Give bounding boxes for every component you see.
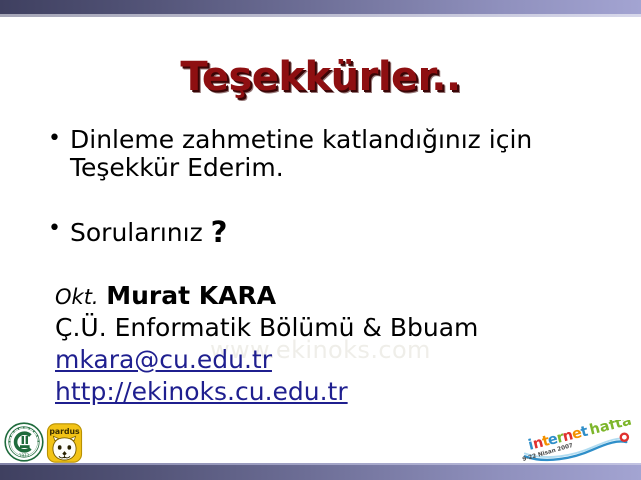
bullet-text-questions: Sorularınız ?	[70, 216, 608, 248]
bullet-list: • Dinleme zahmetine katlandığınız için T…	[48, 126, 608, 248]
slide-title: Teşekkürler..	[0, 54, 641, 100]
presenter-line: Okt. Murat KARA	[55, 280, 615, 312]
presenter-name: Murat KARA	[106, 281, 276, 310]
pardus-wordmark-text: pardus	[49, 427, 80, 436]
cukurova-universitesi-logo-icon: 1973	[4, 421, 44, 463]
presenter-department: Ç.Ü. Enformatik Bölümü & Bbuam	[55, 312, 615, 344]
list-item: • Dinleme zahmetine katlandığınız için T…	[48, 126, 608, 182]
top-band-shadow	[0, 14, 641, 17]
contact-block: Okt. Murat KARA Ç.Ü. Enformatik Bölümü &…	[55, 280, 615, 407]
bullet-spacer	[48, 182, 608, 216]
bullet-marker-icon: •	[48, 126, 70, 152]
questions-label: Sorularınız	[70, 218, 211, 247]
email-link[interactable]: mkara@cu.edu.tr	[55, 344, 272, 376]
pardus-logo-icon: pardus	[46, 423, 83, 463]
presenter-role: Okt.	[55, 285, 99, 309]
presentation-slide: Teşekkürler.. • Dinleme zahmetine katlan…	[0, 0, 641, 480]
top-gradient-band	[0, 0, 641, 14]
bullet-text-thanks: Dinleme zahmetine katlandığınız için Teş…	[70, 126, 608, 182]
website-link[interactable]: http://ekinoks.cu.edu.tr	[55, 376, 348, 408]
list-item: • Sorularınız ?	[48, 216, 608, 248]
question-mark-glyph: ?	[211, 215, 228, 249]
internet-haftasi-logo-icon: i n t e r n e t haftası 9-22 Nisan 2007	[522, 420, 632, 465]
bottom-gradient-band	[0, 463, 641, 480]
bullet-marker-icon: •	[48, 216, 70, 242]
university-year-text: 1973	[19, 453, 30, 458]
